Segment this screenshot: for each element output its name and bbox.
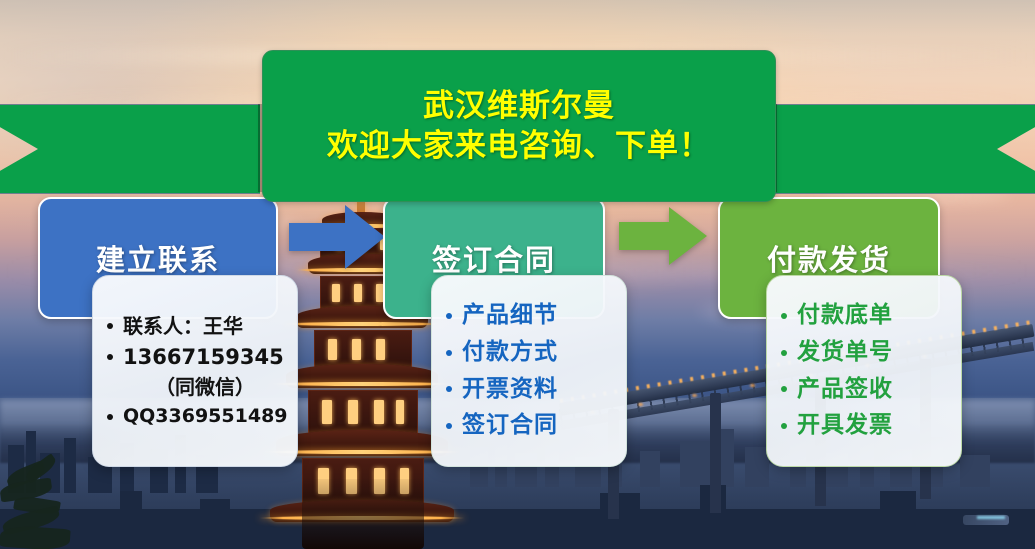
step-2-bullet-list: 产品细节 付款方式 开票资料 签订合同 [432, 293, 626, 448]
ribbon-tail-left [0, 104, 260, 194]
poster-canvas: 武汉维斯尔曼 欢迎大家来电咨询、下单！ 建立联系 联系人：王华 13667159… [0, 0, 1035, 549]
header-ribbon: 武汉维斯尔曼 欢迎大家来电咨询、下单！ [0, 40, 1035, 190]
list-item: 13667159345 [103, 345, 287, 369]
list-item: 联系人：王华 [103, 315, 287, 338]
banner-line-2: 欢迎大家来电咨询、下单！ [327, 126, 711, 166]
list-item: QQ3369551489 [103, 406, 287, 428]
pagoda-base [302, 479, 424, 549]
process-step-card-1[interactable]: 建立联系 联系人：王华 13667159345 （同微信） QQ33695514… [38, 197, 274, 467]
ribbon-tail-right [775, 104, 1035, 194]
process-step-card-3[interactable]: 付款发货 付款底单 发货单号 产品签收 开具发票 [718, 197, 936, 467]
banner-plate: 武汉维斯尔曼 欢迎大家来电咨询、下单！ [262, 50, 776, 202]
list-item: （同微信） [103, 376, 287, 399]
step-1-bullet-list: 联系人：王华 13667159345 （同微信） QQ3369551489 [93, 308, 297, 435]
list-item: 付款底单 [777, 302, 951, 330]
process-step-card-2[interactable]: 签订合同 产品细节 付款方式 开票资料 签订合同 [383, 197, 601, 467]
list-item: 开具发票 [777, 412, 951, 440]
step-1-title: 建立联系 [96, 237, 220, 279]
banner-line-1: 武汉维斯尔曼 [327, 86, 711, 126]
step-3-bullet-list: 付款底单 发货单号 产品签收 开具发票 [767, 293, 961, 448]
banner-title: 武汉维斯尔曼 欢迎大家来电咨询、下单！ [327, 86, 711, 167]
step-1-details-panel: 联系人：王华 13667159345 （同微信） QQ3369551489 [92, 275, 298, 467]
list-item: 开票资料 [442, 376, 616, 404]
list-item: 产品签收 [777, 376, 951, 404]
list-item: 产品细节 [442, 302, 616, 330]
list-item: 签订合同 [442, 412, 616, 440]
step-2-title: 签订合同 [432, 237, 556, 279]
list-item: 发货单号 [777, 339, 951, 367]
step-3-details-panel: 付款底单 发货单号 产品签收 开具发票 [766, 275, 962, 467]
step-3-title: 付款发货 [767, 237, 891, 279]
arrow-step2-to-step3-icon [619, 205, 707, 267]
arrow-step1-to-step2-icon [289, 203, 385, 271]
step-2-details-panel: 产品细节 付款方式 开票资料 签订合同 [431, 275, 627, 467]
boat-light [977, 516, 1005, 519]
list-item: 付款方式 [442, 339, 616, 367]
